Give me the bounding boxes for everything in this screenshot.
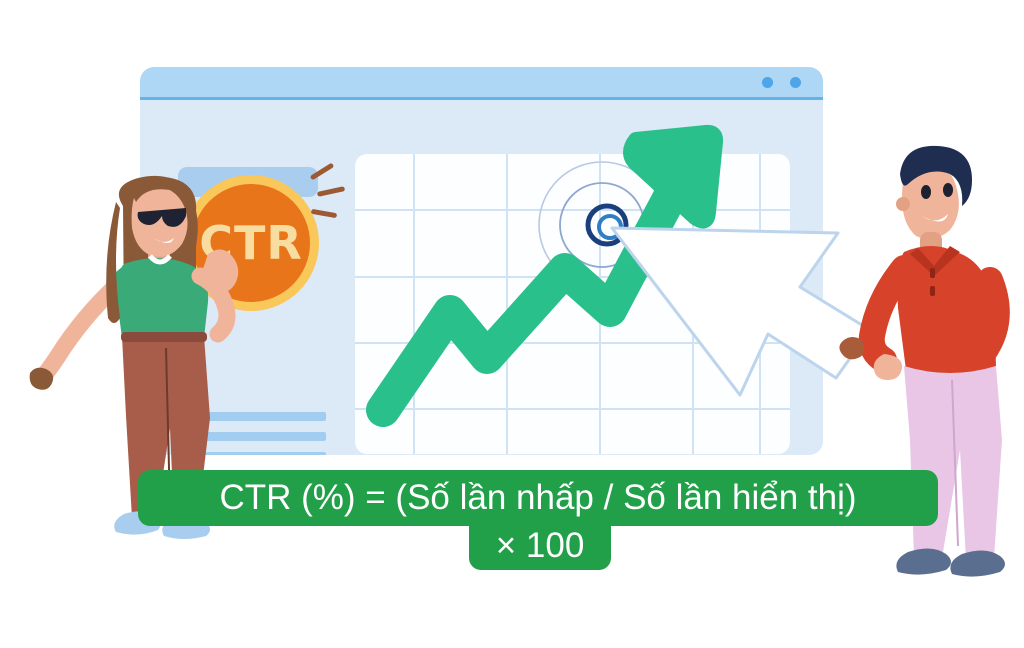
woman-right-hand [202,249,239,292]
window-dot-icon-2[interactable] [790,77,801,88]
formula-line-1: CTR (%) = (Số lần nhấp / Số lần hiển thị… [138,470,938,526]
grid-line-h-4 [355,408,790,410]
woman-hair-strand [106,202,120,323]
man-button-1 [930,268,935,278]
grid-line-h-1 [355,209,790,211]
chart-card [355,154,790,454]
illustration-canvas: CTR [0,0,1024,648]
man-character [800,140,1024,630]
grid-line-h-3 [355,342,790,344]
browser-titlebar [140,67,823,97]
woman-belt [121,332,207,342]
man-left-fingers [839,337,864,359]
man-eye-right [943,183,953,197]
man-button-2 [930,286,935,296]
man-ear [896,197,910,211]
woman-character [20,168,280,628]
man-shoe-right [950,550,1005,576]
woman-left-arm [42,286,116,378]
grid-line-h-2 [355,276,790,278]
man-eye-left [921,185,931,199]
man-shoe-left [896,548,951,574]
window-dot-icon-1[interactable] [762,77,773,88]
formula-line-2: × 100 [469,522,611,570]
